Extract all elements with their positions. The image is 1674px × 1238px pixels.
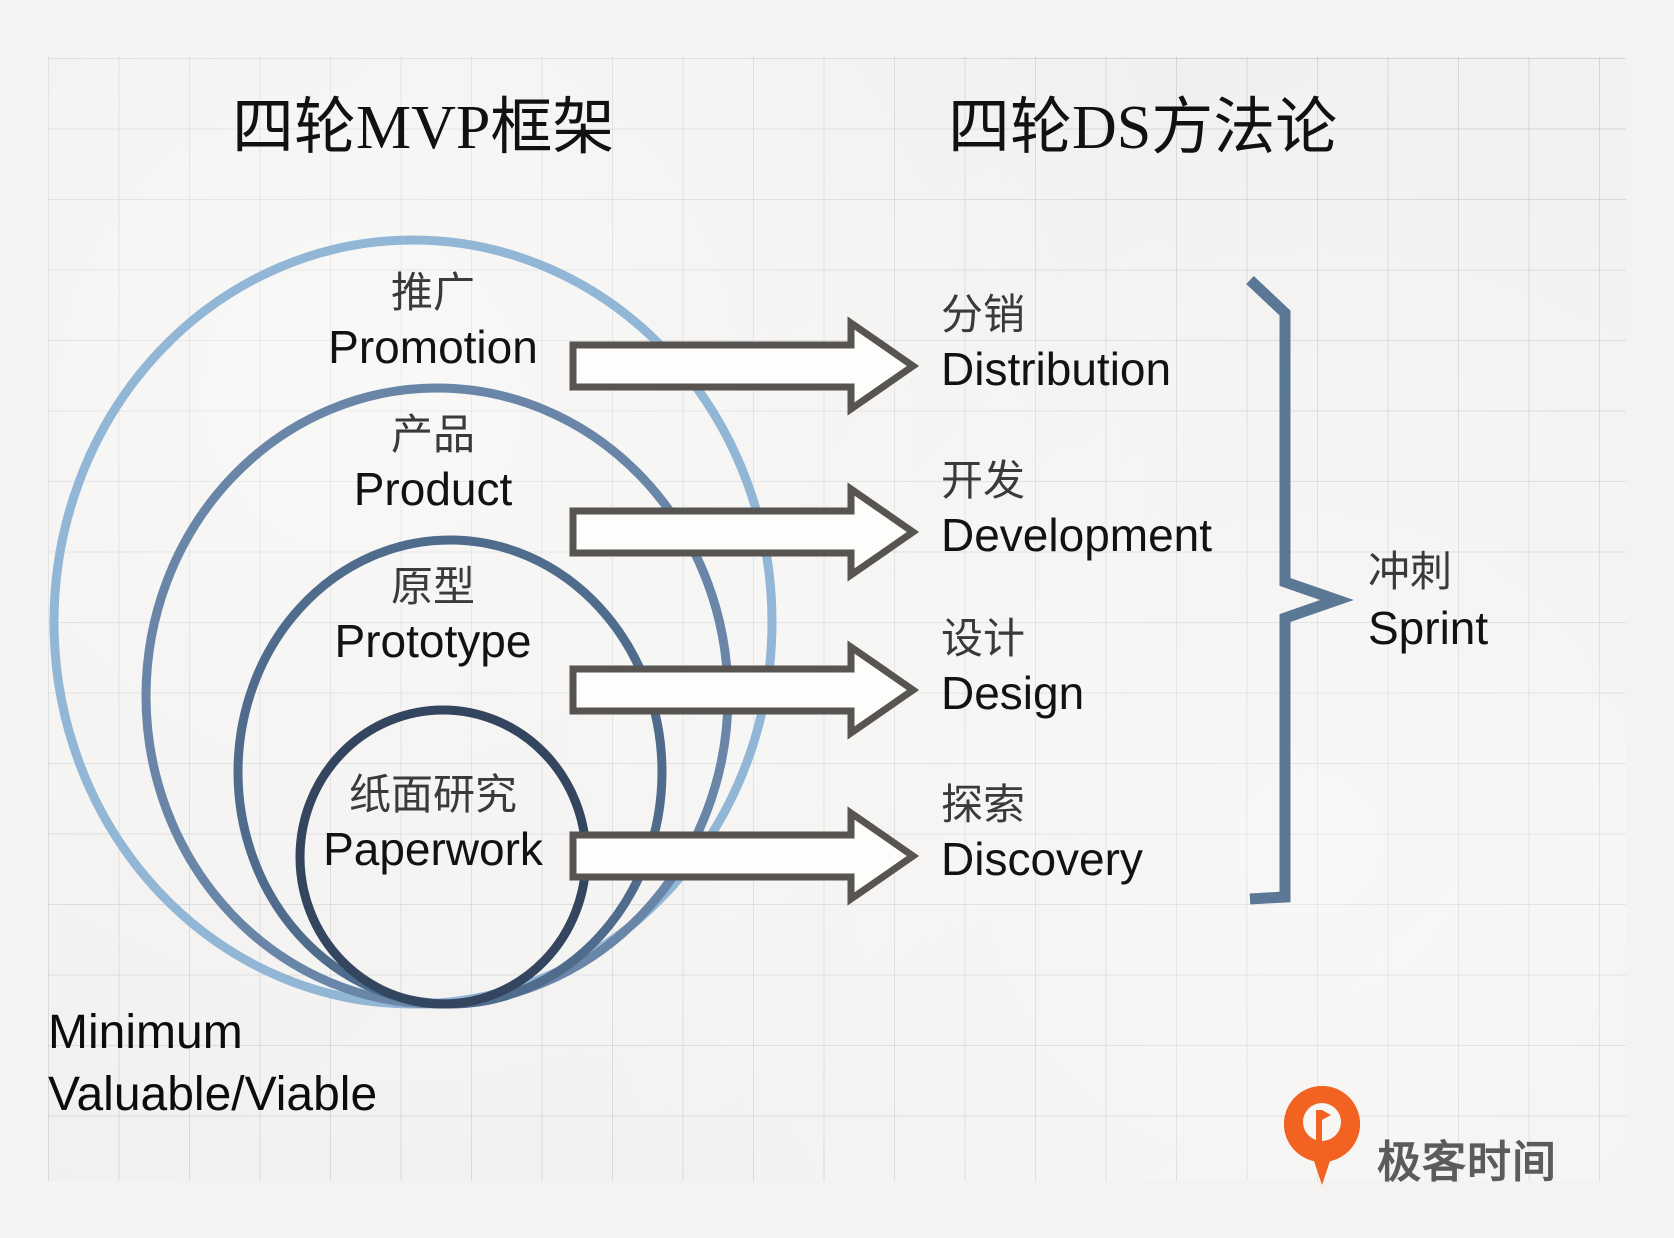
slide-canvas: 四轮MVP框架 四轮DS方法论 <box>0 0 1674 1238</box>
ds-label-development: 开发 Development <box>941 456 1212 562</box>
mvp-label-paperwork-en: Paperwork <box>238 822 628 876</box>
mvp-label-prototype-cn: 原型 <box>238 562 628 614</box>
ds-label-distribution-en: Distribution <box>941 342 1171 396</box>
mvp-label-product-cn: 产品 <box>238 410 628 462</box>
mvp-label-paperwork-cn: 纸面研究 <box>238 770 628 822</box>
mvp-label-prototype: 原型 Prototype <box>238 562 628 668</box>
mvp-label-paperwork: 纸面研究 Paperwork <box>238 770 628 876</box>
mvp-label-promotion-cn: 推广 <box>238 268 628 320</box>
ds-label-development-en: Development <box>941 508 1212 562</box>
ds-label-development-cn: 开发 <box>941 456 1212 508</box>
ds-label-design-en: Design <box>941 666 1084 720</box>
ds-label-discovery: 探索 Discovery <box>941 780 1143 886</box>
ds-label-design: 设计 Design <box>941 614 1084 720</box>
ds-label-design-cn: 设计 <box>941 614 1084 666</box>
mvp-label-product: 产品 Product <box>238 410 628 516</box>
ds-label-distribution: 分销 Distribution <box>941 290 1171 396</box>
ds-label-discovery-cn: 探索 <box>941 780 1143 832</box>
mvp-label-promotion: 推广 Promotion <box>238 268 628 374</box>
logo-mark-spacer <box>1283 1118 1363 1198</box>
sprint-brace <box>1250 280 1337 899</box>
ds-label-discovery-en: Discovery <box>941 832 1143 886</box>
brand-logo: 极客时间 <box>1283 1118 1557 1198</box>
sprint-label: 冲刺 Sprint <box>1368 546 1488 656</box>
mvp-footnote: Minimum Valuable/Viable <box>48 1002 377 1126</box>
mvp-label-prototype-en: Prototype <box>238 614 628 668</box>
mvp-footnote-line2: Valuable/Viable <box>48 1064 377 1126</box>
ds-label-distribution-cn: 分销 <box>941 290 1171 342</box>
sprint-label-en: Sprint <box>1368 600 1488 656</box>
mvp-label-promotion-en: Promotion <box>238 320 628 374</box>
mvp-label-product-en: Product <box>238 462 628 516</box>
mvp-footnote-line1: Minimum <box>48 1002 377 1064</box>
sprint-label-cn: 冲刺 <box>1368 546 1488 600</box>
brand-logo-text: 极客时间 <box>1377 1126 1557 1190</box>
